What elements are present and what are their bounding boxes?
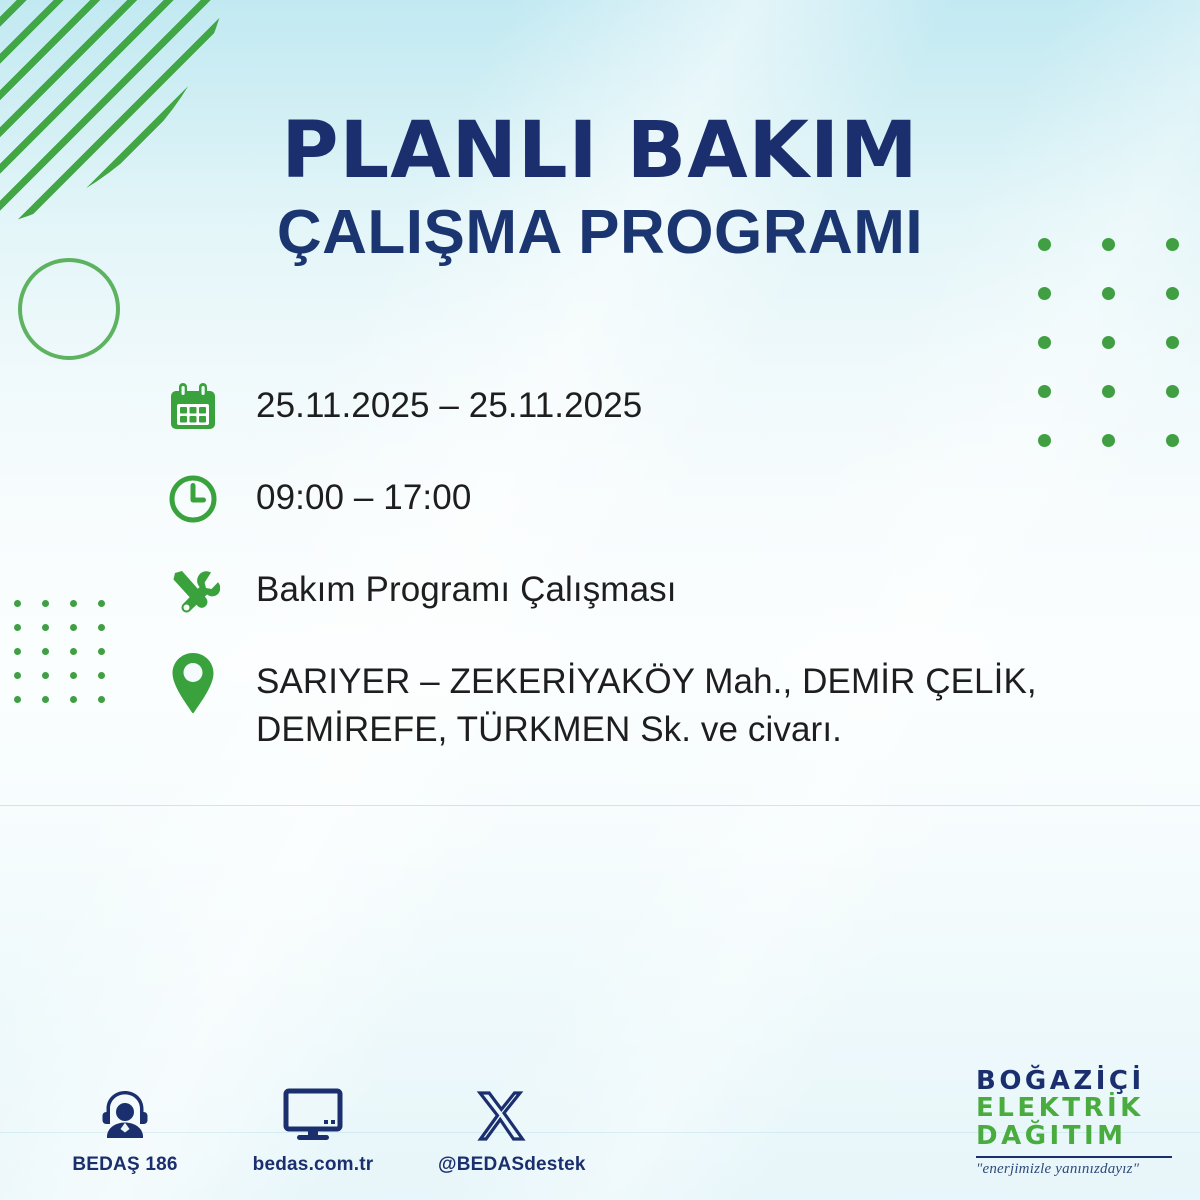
time-range-value: 09:00 – 17:00 — [224, 470, 471, 522]
decoration-dot — [70, 696, 77, 703]
work-type-value: Bakım Programı Çalışması — [224, 562, 677, 614]
brand-line-2: ELEKTRİK — [976, 1095, 1182, 1123]
info-row-date: 25.11.2025 – 25.11.2025 — [166, 378, 1066, 436]
info-row-location: SARIYER – ZEKERİYAKÖY Mah., DEMİR ÇELİK,… — [166, 654, 1066, 755]
decoration-dot — [1166, 336, 1179, 349]
dot-grid-left-decoration — [14, 600, 126, 720]
decoration-dot — [98, 648, 105, 655]
decoration-dot — [1102, 385, 1115, 398]
decoration-dot — [42, 672, 49, 679]
decoration-dot — [42, 600, 49, 607]
footer-contacts: BEDAŞ 186 bedas.com.tr @BEDASdestek — [62, 1081, 564, 1176]
monitor-icon — [250, 1081, 376, 1143]
decoration-dot — [1038, 336, 1051, 349]
divider-line-upper — [0, 805, 1200, 806]
info-list: 25.11.2025 – 25.11.2025 09:00 – 17:00 — [166, 378, 1066, 755]
decoration-dot — [98, 600, 105, 607]
page-title-secondary: ÇALIŞMA PROGRAMI — [0, 198, 1200, 267]
brand-divider — [976, 1156, 1172, 1158]
decoration-dot — [14, 600, 21, 607]
decoration-dot — [1102, 434, 1115, 447]
decoration-dot — [70, 600, 77, 607]
x-social-icon — [438, 1081, 564, 1143]
decoration-dot — [1166, 287, 1179, 300]
decoration-dot — [1102, 336, 1115, 349]
decoration-dot — [1038, 287, 1051, 300]
circle-outline-decoration — [18, 258, 120, 360]
decoration-dot — [14, 624, 21, 631]
planned-maintenance-poster: PLANLI BAKIM ÇALIŞMA PROGRAMI — [0, 0, 1200, 1200]
decoration-dot — [70, 672, 77, 679]
decoration-dot — [42, 648, 49, 655]
brand-line-1: BOĞAZİÇİ — [976, 1068, 1182, 1096]
decoration-dot — [42, 696, 49, 703]
contact-social[interactable]: @BEDASdestek — [438, 1081, 564, 1176]
poster-header: PLANLI BAKIM ÇALIŞMA PROGRAMI — [0, 112, 1200, 267]
contact-phone-label: BEDAŞ 186 — [62, 1154, 188, 1176]
date-range-value: 25.11.2025 – 25.11.2025 — [224, 378, 642, 430]
decoration-dot — [98, 624, 105, 631]
decoration-dot — [14, 696, 21, 703]
contact-website[interactable]: bedas.com.tr — [250, 1081, 376, 1176]
clock-icon — [166, 470, 224, 528]
decoration-dot — [14, 648, 21, 655]
headset-support-icon — [62, 1081, 188, 1143]
location-value: SARIYER – ZEKERİYAKÖY Mah., DEMİR ÇELİK,… — [224, 654, 1056, 755]
brand-line-3: DAĞITIM — [976, 1123, 1182, 1151]
page-title-primary: PLANLI BAKIM — [0, 112, 1200, 190]
tools-icon — [166, 562, 224, 620]
decoration-dot — [98, 696, 105, 703]
info-row-time: 09:00 – 17:00 — [166, 470, 1066, 528]
decoration-dot — [42, 624, 49, 631]
decoration-dot — [1166, 434, 1179, 447]
decoration-dot — [70, 624, 77, 631]
location-pin-icon — [166, 654, 224, 712]
brand-logo: BOĞAZİÇİ ELEKTRİK DAĞITIM "enerjimizle y… — [976, 1068, 1182, 1178]
calendar-icon — [166, 378, 224, 436]
decoration-dot — [98, 672, 105, 679]
contact-website-label: bedas.com.tr — [250, 1154, 376, 1176]
decoration-dot — [1102, 287, 1115, 300]
contact-social-label: @BEDASdestek — [438, 1154, 564, 1176]
info-row-work-type: Bakım Programı Çalışması — [166, 562, 1066, 620]
brand-tagline: "enerjimizle yanınızdayız" — [976, 1161, 1182, 1178]
decoration-dot — [1166, 385, 1179, 398]
contact-phone[interactable]: BEDAŞ 186 — [62, 1081, 188, 1176]
decoration-dot — [14, 672, 21, 679]
decoration-dot — [70, 648, 77, 655]
